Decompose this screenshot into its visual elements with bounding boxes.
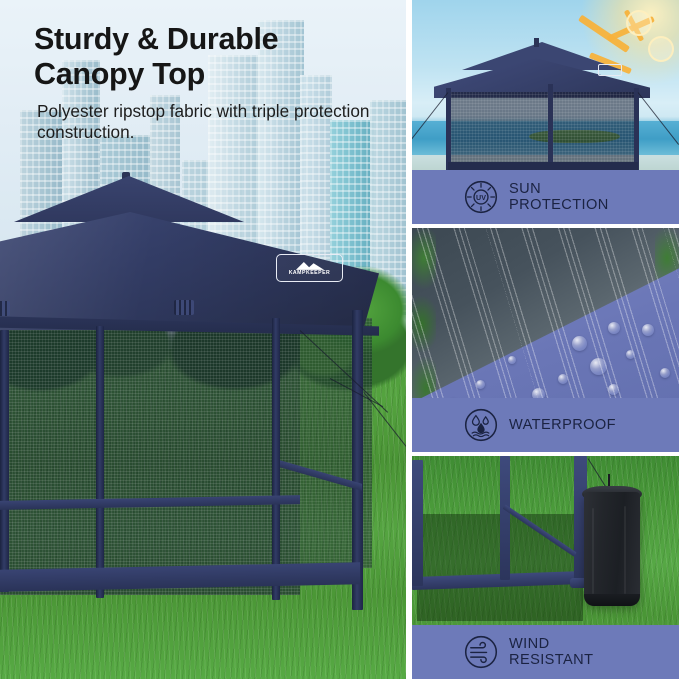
feature-panel-wind-resistant: WIND RESISTANT bbox=[412, 456, 679, 679]
feature-label-text: WIND RESISTANT bbox=[509, 636, 593, 669]
water-droplets-icon bbox=[464, 408, 498, 442]
feature-label-line1: WIND bbox=[509, 636, 593, 652]
uv-symbol bbox=[648, 36, 674, 62]
canopy-frame-bar bbox=[412, 460, 423, 586]
brand-badge: KAMPKEEPER bbox=[276, 254, 343, 282]
bag-fold bbox=[592, 508, 594, 594]
small-roof-cap bbox=[534, 38, 539, 47]
main-product-image: KAMPKEEPER Sturdy & Durable Canopy Top P… bbox=[0, 0, 406, 679]
bag-fold bbox=[624, 506, 626, 594]
canopy-leg bbox=[0, 330, 9, 592]
feature-label-line1: SUN bbox=[509, 181, 609, 197]
headline-block: Sturdy & Durable Canopy Top Polyester ri… bbox=[34, 22, 384, 143]
bag-bottom bbox=[584, 594, 640, 606]
feature-label-waterproof: WATERPROOF bbox=[412, 398, 679, 452]
feature-label-text: WATERPROOF bbox=[509, 417, 616, 433]
uv-icon-text: UV bbox=[476, 194, 486, 202]
page-title-line2: Canopy Top bbox=[34, 57, 384, 92]
small-brand-badge bbox=[598, 64, 622, 76]
product-infographic: KAMPKEEPER Sturdy & Durable Canopy Top P… bbox=[0, 0, 679, 679]
feature-label-wind-resistant: WIND RESISTANT bbox=[412, 625, 679, 679]
brand-name: KAMPKEEPER bbox=[289, 271, 331, 276]
canopy-frame-bar bbox=[500, 456, 510, 580]
small-mesh-texture bbox=[448, 92, 638, 170]
roof-vent bbox=[0, 301, 10, 316]
uv-symbol bbox=[626, 10, 652, 36]
feature-label-sun-protection: UV SUN PROTECTION bbox=[412, 170, 679, 224]
roof-vent bbox=[174, 300, 194, 315]
canopy-leg bbox=[96, 326, 104, 598]
feature-label-line2: PROTECTION bbox=[509, 197, 609, 213]
feature-panels: UV SUN PROTECTION bbox=[412, 0, 679, 679]
canopy-leg bbox=[272, 318, 280, 600]
feature-panel-waterproof: WATERPROOF bbox=[412, 228, 679, 452]
page-title-line1: Sturdy & Durable bbox=[34, 22, 384, 57]
wind-flow-icon bbox=[464, 635, 498, 669]
page-subtitle: Polyester ripstop fabric with triple pro… bbox=[37, 101, 384, 143]
uv-sun-icon: UV bbox=[464, 180, 498, 214]
feature-label-line2: RESISTANT bbox=[509, 652, 593, 668]
feature-label-line1: WATERPROOF bbox=[509, 417, 616, 433]
feature-label-text: SUN PROTECTION bbox=[509, 181, 609, 214]
feature-panel-sun-protection: UV SUN PROTECTION bbox=[412, 0, 679, 224]
